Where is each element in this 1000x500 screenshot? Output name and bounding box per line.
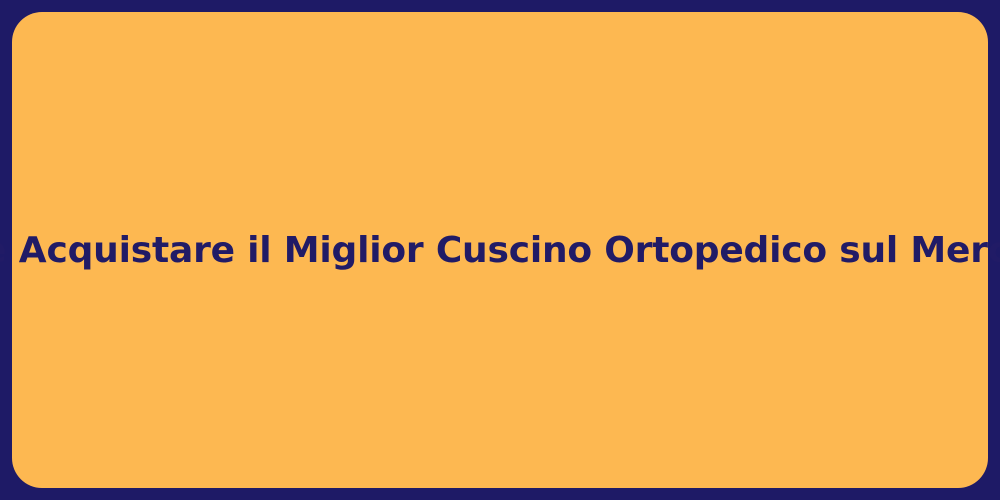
banner-frame: Dove Acquistare il Miglior Cuscino Ortop…	[0, 0, 1000, 500]
page-title: Dove Acquistare il Miglior Cuscino Ortop…	[0, 228, 1000, 273]
banner-card: Dove Acquistare il Miglior Cuscino Ortop…	[12, 12, 988, 488]
